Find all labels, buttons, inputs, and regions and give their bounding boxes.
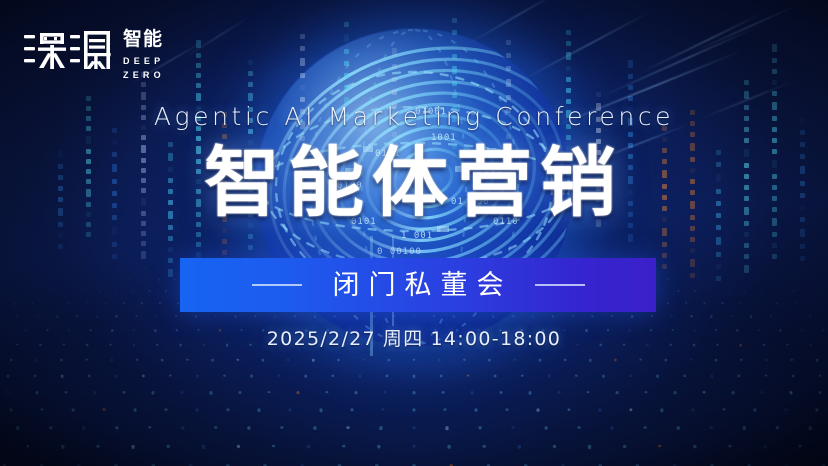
subtitle-text: 闭门私董会	[324, 272, 513, 299]
svg-text:0 00100: 0 00100	[377, 247, 422, 257]
subtitle-band: 闭门私董会	[180, 258, 656, 312]
light-streak	[600, 25, 760, 98]
event-datetime: 2025/2/27周四14:00-18:00	[0, 330, 828, 349]
svg-text:1 001: 1 001	[401, 231, 433, 241]
event-date: 2025/2/27	[267, 328, 376, 350]
event-time: 14:00-18:00	[431, 328, 562, 350]
light-streak	[640, 11, 766, 74]
logo-chinese-name: 智能	[123, 30, 165, 49]
light-streak	[520, 10, 653, 82]
logo-english-line2: ZERO	[123, 70, 165, 81]
event-weekday: 周四	[383, 328, 424, 350]
band-dash-left-icon	[252, 284, 302, 286]
hero-content: Agentic AI Marketing Conference 智能体营销	[0, 104, 828, 221]
poster-canvas: 0101 1001 0101 1 001 0 00100 01 000 1101…	[0, 0, 828, 466]
conference-headline: 智能体营销	[0, 145, 828, 221]
brand-logo[interactable]: 智能 DEEP ZERO	[22, 28, 165, 81]
light-streak	[466, 0, 562, 45]
logo-english-line1: DEEP	[123, 56, 165, 67]
deep-zero-wordmark-icon	[22, 28, 114, 74]
light-streak	[690, 3, 800, 53]
band-dash-right-icon	[535, 284, 585, 286]
conference-eyebrow: Agentic AI Marketing Conference	[0, 104, 828, 129]
logo-text-block: 智能 DEEP ZERO	[123, 28, 165, 81]
light-streak	[182, 16, 251, 60]
